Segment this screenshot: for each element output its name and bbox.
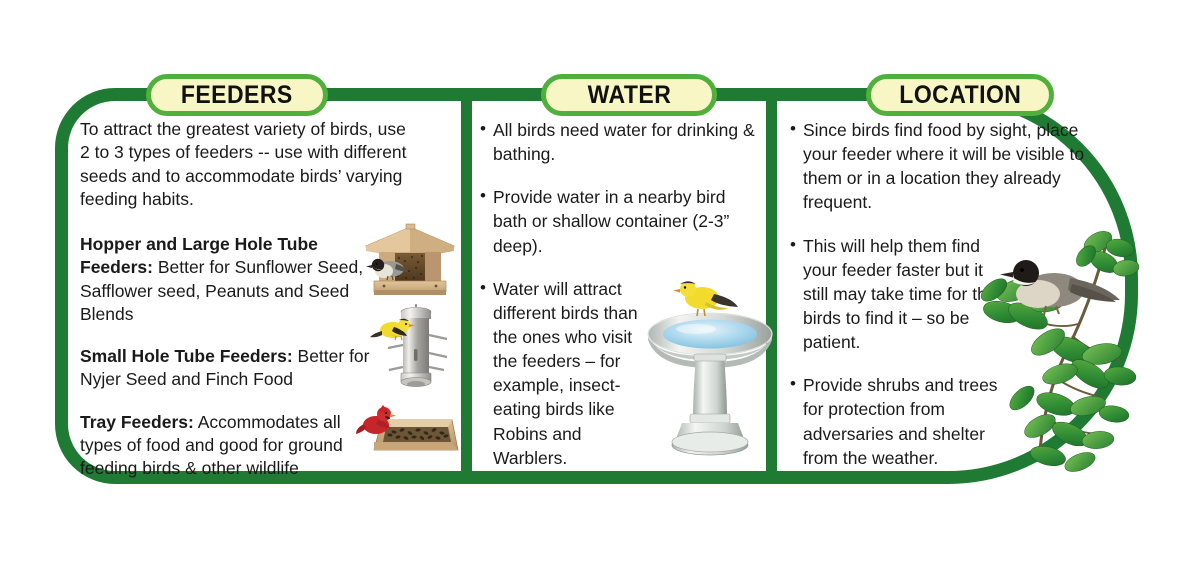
location-bullet-3: Provide shrubs and trees for protection … [790,373,999,470]
tube-feeder-image [380,305,452,401]
feeders-entry-tray: Tray Feeders: Accommodates all types of … [80,411,370,481]
location-bullet-2: This will help them find your feeder fas… [790,234,999,355]
feeders-entry-tray-lead: Tray Feeders: [80,412,194,432]
panel-title-badge-location: LOCATION [866,74,1054,116]
panel-title-feeders: FEEDERS [181,81,293,110]
feeders-entry-hopper: Hopper and Large Hole Tube Feeders: Bett… [80,233,370,326]
location-bullet-1: Since birds find food by sight, place yo… [790,118,1108,215]
water-bullet-3: Water will attract different birds than … [480,277,645,470]
water-bullet-2: Provide water in a nearby bird bath or s… [480,185,763,257]
infographic-root: FEEDERS WATER LOCATION To attract the gr… [0,0,1200,577]
panel-title-badge-feeders: FEEDERS [146,74,328,116]
panel-title-water: WATER [587,81,671,110]
bird-bath-image [646,262,774,458]
chickadee-on-branch-image [986,228,1136,474]
feeders-entry-small-hole: Small Hole Tube Feeders: Better for Nyje… [80,345,370,392]
panel-title-badge-water: WATER [541,74,717,116]
hopper-feeder-image [362,224,458,302]
tray-feeder-image [356,392,460,464]
feeders-intro-text: To attract the greatest variety of birds… [80,118,420,211]
panel-title-location: LOCATION [899,81,1021,110]
panel-divider-feeders-water [461,88,472,484]
water-bullet-1: All birds need water for drinking & bath… [480,118,763,166]
goldfinch-on-bird-bath [673,281,738,316]
feeders-entry-small-hole-lead: Small Hole Tube Feeders: [80,346,293,366]
